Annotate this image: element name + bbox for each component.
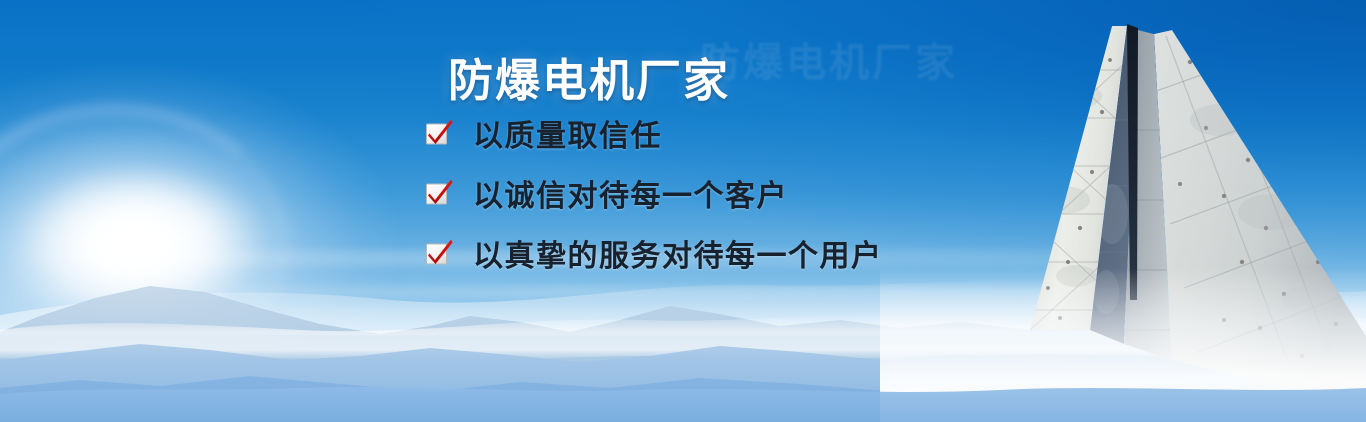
- banner-content: 防爆电机厂家 防爆电机厂家: [0, 0, 1366, 422]
- list-item: 以诚信对待每一个客户: [424, 163, 883, 223]
- promo-banner: 防爆电机厂家 防爆电机厂家: [0, 0, 1366, 422]
- red-check-box-icon: [424, 178, 454, 208]
- list-item-label: 以诚信对待每一个客户: [473, 171, 788, 215]
- red-check-box-icon: [424, 118, 454, 148]
- headline-ghost-watermark: 防爆电机厂家: [700, 30, 958, 88]
- banner-headline: 防爆电机厂家: [448, 54, 730, 108]
- list-item: 以真挚的服务对待每一个用户: [424, 223, 883, 283]
- list-item-label: 以质量取信任: [473, 111, 662, 155]
- red-check-box-icon: [424, 238, 454, 268]
- list-item-label: 以真挚的服务对待每一个用户: [473, 231, 883, 275]
- list-item: 以质量取信任: [424, 103, 883, 163]
- feature-bullet-list: 以质量取信任 以诚信对待每一个客户 以真挚的: [424, 103, 883, 283]
